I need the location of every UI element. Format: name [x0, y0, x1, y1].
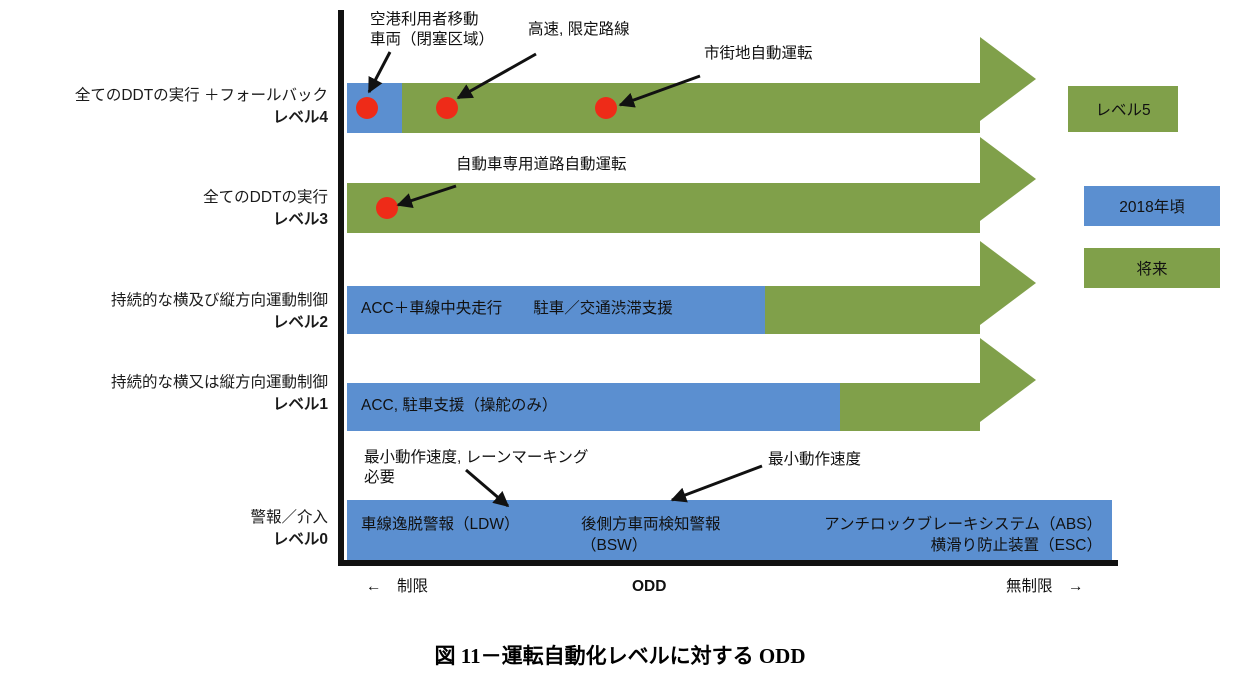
leader-motorway-autonomous-driving	[398, 186, 456, 205]
leader-min-speed-lane-marking	[466, 470, 508, 506]
leader-airport-shuttle	[369, 52, 390, 92]
legend-item-2018: 2018年頃	[1084, 186, 1220, 226]
legend-item-2018-label: 2018年頃	[1119, 195, 1184, 217]
axis-label-unrestricted: 無制限 →	[1006, 574, 1084, 596]
legend-item-future-label: 将来	[1136, 257, 1167, 279]
axis-label-restricted: ← 制限	[366, 574, 428, 596]
figure-caption: 図 11－運転自動化レベルに対する ODD	[0, 640, 1240, 670]
leader-highway-limited-route	[458, 54, 536, 98]
level5-box-label: レベル5	[1095, 98, 1150, 120]
leader-min-operating-speed	[672, 466, 762, 500]
level5-box: レベル5	[1068, 86, 1178, 132]
axis-label-odd: ODD	[632, 578, 666, 596]
figure-canvas: 全てのDDTの実行 ＋フォールバック レベル4 全てのDDTの実行 レベル3 持…	[0, 0, 1240, 686]
legend-item-future: 将来	[1084, 248, 1220, 288]
leader-urban-autonomous-driving	[620, 76, 700, 105]
